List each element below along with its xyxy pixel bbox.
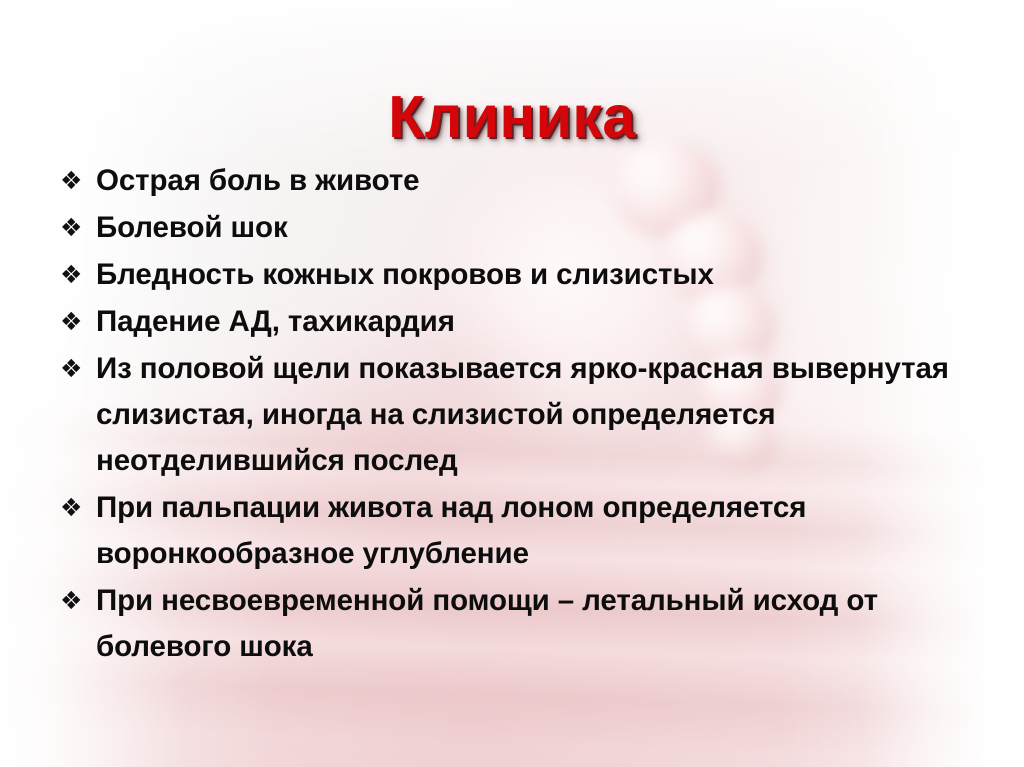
diamond-bullet-icon: ❖	[60, 299, 96, 345]
presentation-slide: Клиника ❖ Острая боль в животе ❖ Болевой…	[0, 0, 1024, 767]
list-item-label: Падение АД, тахикардия	[96, 299, 976, 345]
diamond-bullet-icon: ❖	[60, 205, 96, 251]
symptom-bullet-list: ❖ Острая боль в животе ❖ Болевой шок ❖ Б…	[60, 158, 990, 671]
list-item: ❖ Из половой щели показывается ярко-крас…	[60, 346, 990, 484]
list-item: ❖ Падение АД, тахикардия	[60, 299, 990, 345]
diamond-bullet-icon: ❖	[60, 485, 96, 531]
list-item-label: Острая боль в животе	[96, 158, 976, 204]
list-item-label: Из половой щели показывается ярко-красна…	[96, 346, 976, 484]
slide-content: Клиника ❖ Острая боль в животе ❖ Болевой…	[0, 0, 1024, 767]
diamond-bullet-icon: ❖	[60, 252, 96, 298]
list-item: ❖ При пальпации живота над лоном определ…	[60, 485, 990, 577]
list-item: ❖ Бледность кожных покровов и слизистых	[60, 252, 990, 298]
list-item: ❖ Болевой шок	[60, 205, 990, 251]
diamond-bullet-icon: ❖	[60, 158, 96, 204]
list-item-label: Бледность кожных покровов и слизистых	[96, 252, 976, 298]
list-item: ❖ При несвоевременной помощи – летальный…	[60, 578, 990, 670]
list-item-label: Болевой шок	[96, 205, 976, 251]
list-item-label: При пальпации живота над лоном определяе…	[96, 485, 976, 577]
diamond-bullet-icon: ❖	[60, 578, 96, 624]
slide-title: Клиника	[0, 88, 1024, 147]
list-item-label: При несвоевременной помощи – летальный и…	[96, 578, 976, 670]
list-item: ❖ Острая боль в животе	[60, 158, 990, 204]
diamond-bullet-icon: ❖	[60, 346, 96, 392]
